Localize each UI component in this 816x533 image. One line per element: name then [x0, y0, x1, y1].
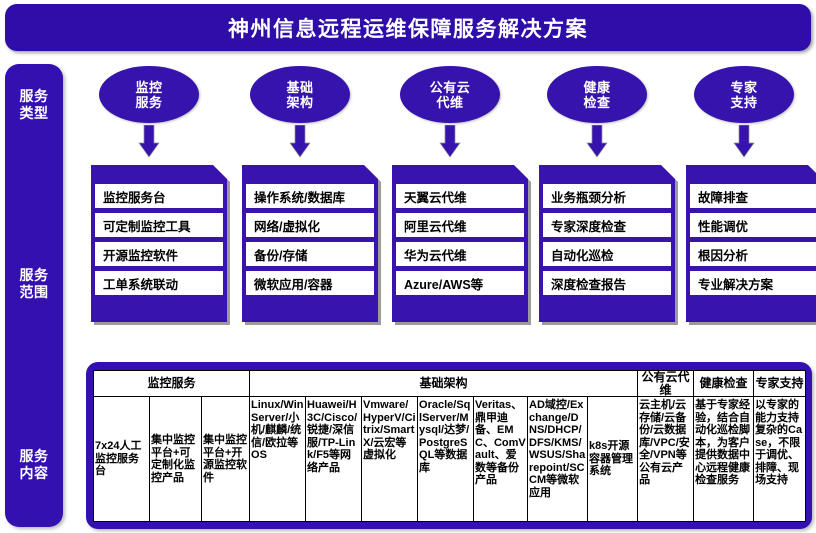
service-scope-item[interactable]: 工单系统联动 [95, 271, 223, 295]
table-cell: Linux/WinServer/小机/麒麟/统信/欧拉等OS [250, 397, 306, 522]
service-type-label-line1: 基础 [286, 80, 313, 95]
down-arrow-icon [289, 125, 311, 158]
service-scope-item-list: 故障排查性能调优根因分析专业解决方案 [690, 184, 816, 295]
down-arrow-icon [138, 125, 160, 158]
sidebar-item-service-scope-line1: 服务 [5, 267, 63, 284]
service-type-label-line1: 健康 [583, 80, 610, 95]
table-group-header-2: 公有云代维 [638, 371, 694, 397]
service-scope-item[interactable]: 故障排查 [690, 184, 816, 208]
service-scope-panel-2: 天翼云代维阿里云代维华为云代维Azure/AWS等 [392, 165, 528, 322]
down-arrow-icon [439, 125, 461, 158]
table-cell: 以专家的能力支持复杂的Case，不限于调优、排障、现场支持 [754, 397, 806, 522]
service-scope-item-list: 监控服务台可定制监控工具开源监控软件工单系统联动 [95, 184, 223, 295]
table-cell: k8s开源容器管理系统 [588, 397, 638, 522]
table-cell: Vmware/HyperV/Citrix/SmartX/云宏等虚拟化 [362, 397, 418, 522]
sidebar-item-service-scope-line2: 范围 [5, 284, 63, 301]
service-scope-item[interactable]: Azure/AWS等 [396, 271, 524, 295]
table-group-header-4: 专家支持 [754, 371, 806, 397]
service-type-ellipse-4[interactable]: 专家支持 [694, 66, 794, 123]
sidebar-item-service-content-line1: 服务 [5, 448, 63, 465]
service-content-table: 监控服务基础架构公有云代维健康检查专家支持 7x24人工监控服务台集中监控平台+… [93, 370, 806, 522]
service-type-ellipse-1[interactable]: 基础架构 [250, 66, 350, 123]
sidebar-item-service-content-line2: 内容 [5, 465, 63, 482]
service-scope-item[interactable]: 华为云代维 [396, 242, 524, 266]
service-scope-item[interactable]: 网络/虚拟化 [246, 213, 374, 237]
service-scope-item[interactable]: 业务瓶颈分析 [543, 184, 671, 208]
service-type-label-line2: 代维 [430, 95, 471, 110]
service-scope-panel-3: 业务瓶颈分析专家深度检查自动化巡检深度检查报告 [539, 165, 675, 322]
service-scope-item[interactable]: 根因分析 [690, 242, 816, 266]
table-group-header-3: 健康检查 [694, 371, 754, 397]
sidebar-item-service-scope[interactable]: 服务 范围 [5, 267, 63, 301]
service-scope-item-list: 天翼云代维阿里云代维华为云代维Azure/AWS等 [396, 184, 524, 295]
service-scope-item[interactable]: 监控服务台 [95, 184, 223, 208]
service-scope-panel-4: 故障排查性能调优根因分析专业解决方案 [686, 165, 816, 322]
sidebar-item-service-content[interactable]: 服务 内容 [5, 448, 63, 482]
table-group-header-1: 基础架构 [250, 371, 638, 397]
table-cell: Veritas、鼎甲迪备、EMC、ComVault、爱数等备份产品 [474, 397, 528, 522]
table-cell: 7x24人工监控服务台 [94, 397, 150, 522]
table-group-header-0: 监控服务 [94, 371, 250, 397]
service-scope-panel-0: 监控服务台可定制监控工具开源监控软件工单系统联动 [91, 165, 227, 322]
service-type-label-line2: 架构 [286, 95, 313, 110]
service-scope-item[interactable]: 开源监控软件 [95, 242, 223, 266]
service-type-label-line1: 专家 [730, 80, 757, 95]
service-scope-item[interactable]: 阿里云代维 [396, 213, 524, 237]
service-scope-item[interactable]: 可定制监控工具 [95, 213, 223, 237]
page-title-bar: 神州信息远程运维保障服务解决方案 [5, 4, 811, 51]
service-scope-item-list: 操作系统/数据库网络/虚拟化备份/存储微软应用/容器 [246, 184, 374, 295]
service-type-label-line2: 检查 [583, 95, 610, 110]
table-cell: 集中监控平台+开源监控软件 [202, 397, 250, 522]
service-type-ellipse-0[interactable]: 监控服务 [99, 66, 199, 123]
service-scope-item[interactable]: 天翼云代维 [396, 184, 524, 208]
table-cell: AD域控/Exchange/DNS/DHCP/DFS/KMS/WSUS/Shar… [528, 397, 588, 522]
table-cell: Oracle/SqlServer/Mysql/达梦/PostgreSQL等数据库 [418, 397, 474, 522]
down-arrow-icon [733, 125, 755, 158]
service-scope-item-list: 业务瓶颈分析专家深度检查自动化巡检深度检查报告 [543, 184, 671, 295]
service-scope-item[interactable]: 专家深度检查 [543, 213, 671, 237]
service-type-ellipse-3[interactable]: 健康检查 [547, 66, 647, 123]
service-type-label-line2: 服务 [135, 95, 162, 110]
sidebar: 服务 类型 服务 范围 服务 内容 [5, 64, 63, 527]
service-scope-item[interactable]: 深度检查报告 [543, 271, 671, 295]
page-title: 神州信息远程运维保障服务解决方案 [228, 13, 588, 43]
service-scope-item[interactable]: 备份/存储 [246, 242, 374, 266]
service-scope-item[interactable]: 操作系统/数据库 [246, 184, 374, 208]
table-cell: 基于专家经验，结合自动化巡检脚本，为客户提供数据中心远程健康检查服务 [694, 397, 754, 522]
sidebar-item-service-type-line2: 类型 [5, 105, 63, 122]
service-scope-item[interactable]: 自动化巡检 [543, 242, 671, 266]
service-type-label-line2: 支持 [730, 95, 757, 110]
table-header-row: 监控服务基础架构公有云代维健康检查专家支持 [94, 371, 806, 397]
service-scope-item[interactable]: 微软应用/容器 [246, 271, 374, 295]
service-scope-item[interactable]: 性能调优 [690, 213, 816, 237]
service-scope-item[interactable]: 专业解决方案 [690, 271, 816, 295]
service-content-panel: 监控服务基础架构公有云代维健康检查专家支持 7x24人工监控服务台集中监控平台+… [86, 362, 812, 529]
service-type-label-line1: 公有云 [430, 80, 471, 95]
service-type-label-line1: 监控 [135, 80, 162, 95]
table-cell: 云主机/云存储/云备份/云数据库/VPC/安全/VPN等公有云产品 [638, 397, 694, 522]
sidebar-item-service-type-line1: 服务 [5, 88, 63, 105]
service-scope-panel-1: 操作系统/数据库网络/虚拟化备份/存储微软应用/容器 [242, 165, 378, 322]
sidebar-item-service-type[interactable]: 服务 类型 [5, 88, 63, 122]
table-cell: 集中监控平台+可定制化监控产品 [150, 397, 202, 522]
table-row: 7x24人工监控服务台集中监控平台+可定制化监控产品集中监控平台+开源监控软件L… [94, 397, 806, 522]
table-cell: Huawei/H3C/Cisco/锐捷/深信服/TP-Link/F5等网络产品 [306, 397, 362, 522]
down-arrow-icon [586, 125, 608, 158]
service-type-ellipse-2[interactable]: 公有云代维 [400, 66, 500, 123]
